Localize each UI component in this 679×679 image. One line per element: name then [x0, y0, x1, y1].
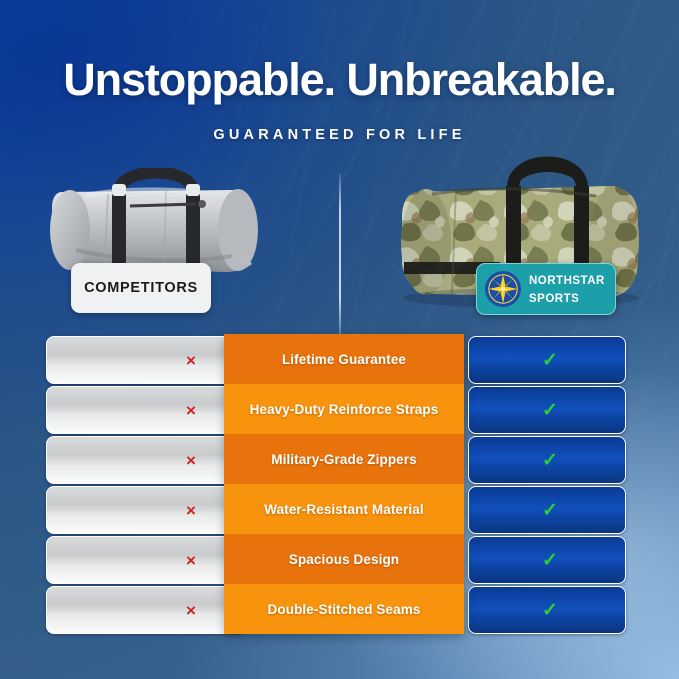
- page-subtitle: GUARANTEED FOR LIFE: [0, 127, 679, 143]
- compass-star-logo-icon: [484, 270, 522, 308]
- feature-label: Lifetime Guarantee: [224, 334, 464, 384]
- northstar-cell: ✓: [468, 386, 626, 434]
- column-divider: [339, 174, 341, 334]
- northstar-cell: ✓: [468, 536, 626, 584]
- competitor-cell: ×: [46, 536, 246, 584]
- page-title: Unstoppable. Unbreakable.: [0, 56, 679, 104]
- brand-name-line1: NORTHSTAR: [529, 275, 605, 287]
- northstar-cell: ✓: [468, 586, 626, 634]
- brand-badge: NORTHSTAR SPORTS: [476, 263, 616, 315]
- check-icon: ✓: [542, 601, 558, 620]
- competitor-cell: ×: [46, 336, 246, 384]
- competitor-cell: ×: [46, 386, 246, 434]
- feature-column: Lifetime Guarantee Heavy-Duty Reinforce …: [224, 334, 464, 634]
- feature-label: Water-Resistant Material: [224, 484, 464, 534]
- cross-icon: ×: [186, 452, 196, 469]
- cross-icon: ×: [186, 502, 196, 519]
- feature-label: Military-Grade Zippers: [224, 434, 464, 484]
- competitor-cell: ×: [46, 586, 246, 634]
- check-icon: ✓: [542, 351, 558, 370]
- competitor-cell: ×: [46, 486, 246, 534]
- brand-name-line2: SPORTS: [529, 293, 579, 305]
- cross-icon: ×: [186, 602, 196, 619]
- competitors-label-text: COMPETITORS: [84, 280, 198, 296]
- northstar-cell: ✓: [468, 336, 626, 384]
- competitors-label-chip: COMPETITORS: [71, 263, 211, 313]
- northstar-cell: ✓: [468, 436, 626, 484]
- check-icon: ✓: [542, 451, 558, 470]
- competitor-cell: ×: [46, 436, 246, 484]
- feature-label: Heavy-Duty Reinforce Straps: [224, 384, 464, 434]
- feature-label: Double-Stitched Seams: [224, 584, 464, 634]
- cross-icon: ×: [186, 552, 196, 569]
- cross-icon: ×: [186, 352, 196, 369]
- check-icon: ✓: [542, 401, 558, 420]
- northstar-cell: ✓: [468, 486, 626, 534]
- brand-name-text: NORTHSTAR SPORTS: [529, 271, 605, 307]
- cross-icon: ×: [186, 402, 196, 419]
- check-icon: ✓: [542, 551, 558, 570]
- check-icon: ✓: [542, 501, 558, 520]
- comparison-infographic: Unstoppable. Unbreakable. GUARANTEED FOR…: [0, 0, 679, 679]
- feature-label: Spacious Design: [224, 534, 464, 584]
